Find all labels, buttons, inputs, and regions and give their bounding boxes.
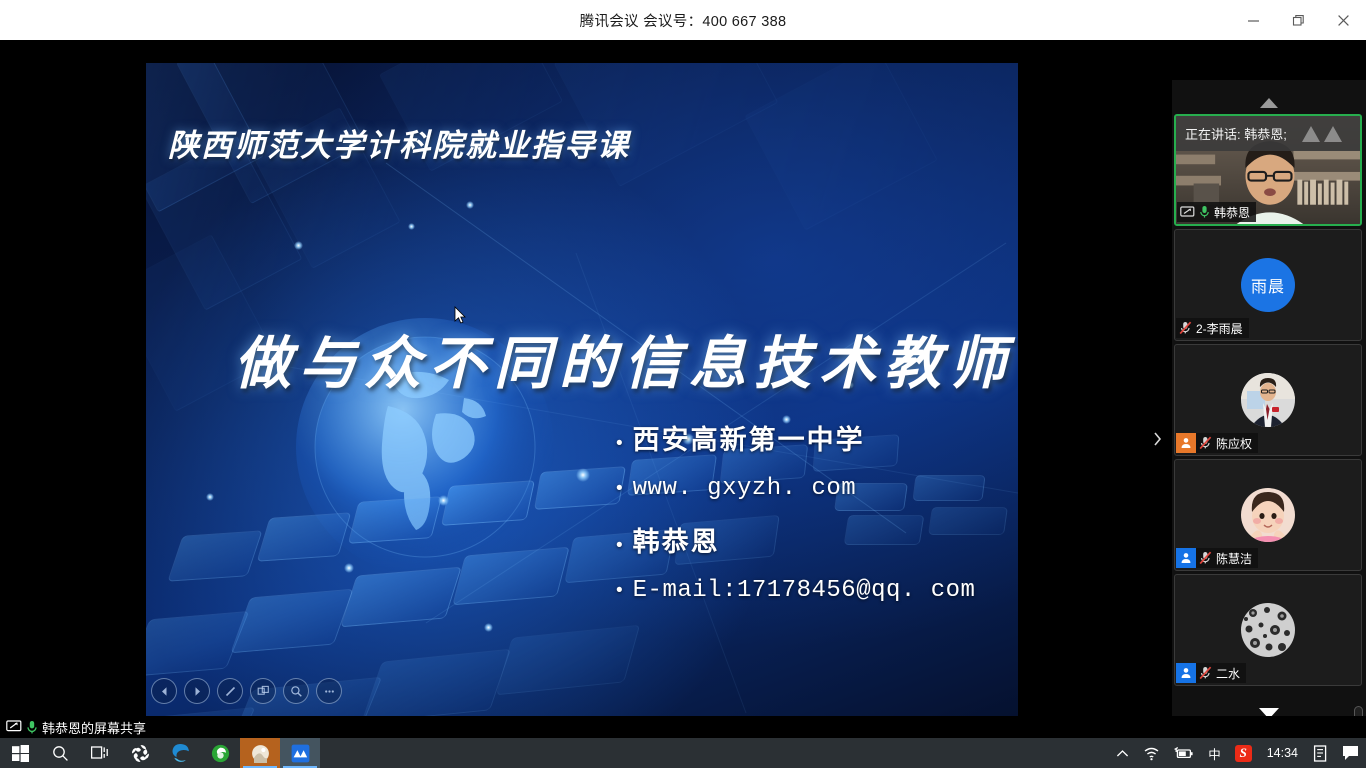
watermark-logo xyxy=(1300,122,1346,144)
grid-plate xyxy=(452,547,569,606)
spark xyxy=(438,495,449,506)
wifi-icon[interactable] xyxy=(1136,738,1167,768)
close-icon[interactable] xyxy=(1321,0,1366,40)
spark xyxy=(408,223,415,230)
participant-panel: 正在讲话: 韩恭恩; xyxy=(1172,80,1366,756)
speaking-status-text: 正在讲话: 韩恭恩; xyxy=(1185,124,1287,143)
bullet-text: E-mail:17178456@qq. com xyxy=(633,577,976,604)
participant-tile-speaking[interactable]: 正在讲话: 韩恭恩; xyxy=(1174,114,1362,226)
pen-icon[interactable] xyxy=(217,678,243,704)
name-chip: 2-李雨晨 xyxy=(1176,318,1249,338)
name-chip: 陈慧洁 xyxy=(1196,548,1258,568)
chevron-up-icon[interactable] xyxy=(1172,90,1366,116)
bullet-dot: • xyxy=(616,581,623,600)
participant-tile[interactable]: 陈慧洁 xyxy=(1174,459,1362,571)
avatar xyxy=(1241,488,1295,542)
participant-name-bar: 二水 xyxy=(1176,663,1246,683)
participant-name: 陈慧洁 xyxy=(1216,550,1252,567)
microphone-icon xyxy=(1199,205,1210,219)
grid-plate xyxy=(257,512,352,561)
decor-tile xyxy=(744,63,937,231)
grid-plate xyxy=(340,567,462,628)
mouse-cursor xyxy=(454,306,467,325)
screen-share-icon xyxy=(1180,206,1195,219)
share-status-text: 韩恭恩的屏幕共享 xyxy=(42,718,146,737)
grid-plate xyxy=(361,649,511,716)
participant-tile[interactable]: 雨晨 2-李雨晨 xyxy=(1174,229,1362,341)
action-center-icon[interactable] xyxy=(1335,738,1366,768)
list-item: • 西安高新第一中学 xyxy=(616,418,1016,457)
system-tray: 中 S 14:34 xyxy=(1109,738,1366,768)
avatar: 雨晨 xyxy=(1241,258,1295,312)
speaking-status-banner: 正在讲话: 韩恭恩; xyxy=(1176,116,1360,151)
bullet-text: www. gxyzh. com xyxy=(633,475,857,502)
name-chip: 二水 xyxy=(1196,663,1246,683)
next-slide-icon[interactable] xyxy=(184,678,210,704)
pinwheel-app-icon[interactable] xyxy=(120,738,160,768)
tencent-meeting-icon[interactable] xyxy=(280,738,320,768)
grid-plate xyxy=(146,707,256,716)
chevron-right-icon[interactable] xyxy=(1146,422,1168,456)
minimize-icon[interactable] xyxy=(1231,0,1276,40)
previous-slide-icon[interactable] xyxy=(151,678,177,704)
green-browser-icon[interactable] xyxy=(200,738,240,768)
meeting-stage: 陕西师范大学计科院就业指导课 做与众不同的信息技术教师 • 西安高新第一中学 •… xyxy=(0,40,1366,716)
windows-start-icon[interactable] xyxy=(0,738,40,768)
sogou-input-icon[interactable]: S xyxy=(1228,738,1259,768)
spark xyxy=(484,623,493,632)
notes-icon[interactable] xyxy=(1306,738,1335,768)
spark xyxy=(206,493,214,501)
participant-tile[interactable]: 陈应权 xyxy=(1174,344,1362,456)
screen-share-icon xyxy=(6,720,22,734)
participant-name: 陈应权 xyxy=(1216,435,1252,452)
spark xyxy=(294,241,303,250)
avatar xyxy=(1241,373,1295,427)
participant-badge-icon xyxy=(1176,663,1196,683)
list-item: • 韩恭恩 xyxy=(616,520,1016,559)
participant-tiles: 正在讲话: 韩恭恩; xyxy=(1174,114,1362,689)
screen-share-status-bar: 韩恭恩的屏幕共享 xyxy=(0,716,1366,738)
microphone-muted-icon xyxy=(1199,666,1212,680)
more-options-icon[interactable] xyxy=(316,678,342,704)
participant-name: 韩恭恩 xyxy=(1214,204,1250,221)
microphone-icon xyxy=(26,720,38,735)
participant-name-bar: 陈慧洁 xyxy=(1176,548,1258,568)
microphone-muted-icon xyxy=(1179,321,1192,335)
zoom-icon[interactable] xyxy=(283,678,309,704)
shared-screen-slide[interactable]: 陕西师范大学计科院就业指导课 做与众不同的信息技术教师 • 西安高新第一中学 •… xyxy=(146,63,1018,716)
ime-icon[interactable]: 中 xyxy=(1201,738,1228,768)
list-item: • www. gxyzh. com xyxy=(616,475,1016,502)
spark xyxy=(576,468,590,482)
bullet-dot: • xyxy=(616,536,623,555)
name-chip: 韩恭恩 xyxy=(1177,202,1256,222)
task-view-icon[interactable] xyxy=(80,738,120,768)
edge-browser-icon[interactable] xyxy=(160,738,200,768)
bullet-dot: • xyxy=(616,434,623,453)
participant-name-bar: 韩恭恩 xyxy=(1177,202,1256,222)
search-icon[interactable] xyxy=(40,738,80,768)
window-title: 腾讯会议 会议号：400 667 388 xyxy=(580,10,787,31)
participant-name-bar: 陈应权 xyxy=(1176,433,1258,453)
window-controls xyxy=(1231,0,1366,40)
grid-plate xyxy=(496,625,640,696)
microphone-muted-icon xyxy=(1199,551,1212,565)
battery-icon[interactable] xyxy=(1167,738,1201,768)
slide-heading: 陕西师范大学计科院就业指导课 xyxy=(168,120,630,165)
list-item: • E-mail:17178456@qq. com xyxy=(616,577,1016,604)
participant-badge-icon xyxy=(1176,548,1196,568)
restore-icon[interactable] xyxy=(1276,0,1321,40)
clock[interactable]: 14:34 xyxy=(1259,746,1306,760)
orange-app-icon[interactable] xyxy=(240,738,280,768)
host-badge-icon xyxy=(1176,433,1196,453)
title-bar: 腾讯会议 会议号：400 667 388 xyxy=(0,0,1366,40)
participant-name: 二水 xyxy=(1216,665,1240,682)
avatar-initials: 雨晨 xyxy=(1251,273,1285,297)
grid-plate xyxy=(230,589,353,654)
participant-name: 2-李雨晨 xyxy=(1196,320,1243,337)
slide-overview-icon[interactable] xyxy=(250,678,276,704)
participant-name-bar: 2-李雨晨 xyxy=(1176,318,1249,338)
bullet-text: 韩恭恩 xyxy=(633,520,720,559)
grid-plate xyxy=(167,530,262,581)
bullet-text: 西安高新第一中学 xyxy=(633,418,865,457)
spark xyxy=(344,563,354,573)
bullet-dot: • xyxy=(616,479,623,498)
grid-plate xyxy=(441,480,535,526)
meeting-window: 腾讯会议 会议号：400 667 388 xyxy=(0,0,1366,768)
chevron-up-icon[interactable] xyxy=(1109,738,1136,768)
avatar xyxy=(1241,603,1295,657)
grid-plate xyxy=(348,496,442,544)
name-chip: 陈应权 xyxy=(1196,433,1258,453)
slideshow-toolbar xyxy=(151,678,342,704)
participant-tile[interactable]: 二水 xyxy=(1174,574,1362,686)
slide-main-title: 做与众不同的信息技术教师 xyxy=(234,318,1014,400)
taskbar: 中 S 14:34 xyxy=(0,738,1366,768)
spark xyxy=(466,201,474,209)
slide-bullet-list: • 西安高新第一中学 • www. gxyzh. com • 韩恭恩 • E-m… xyxy=(616,418,1016,622)
microphone-muted-icon xyxy=(1199,436,1212,450)
